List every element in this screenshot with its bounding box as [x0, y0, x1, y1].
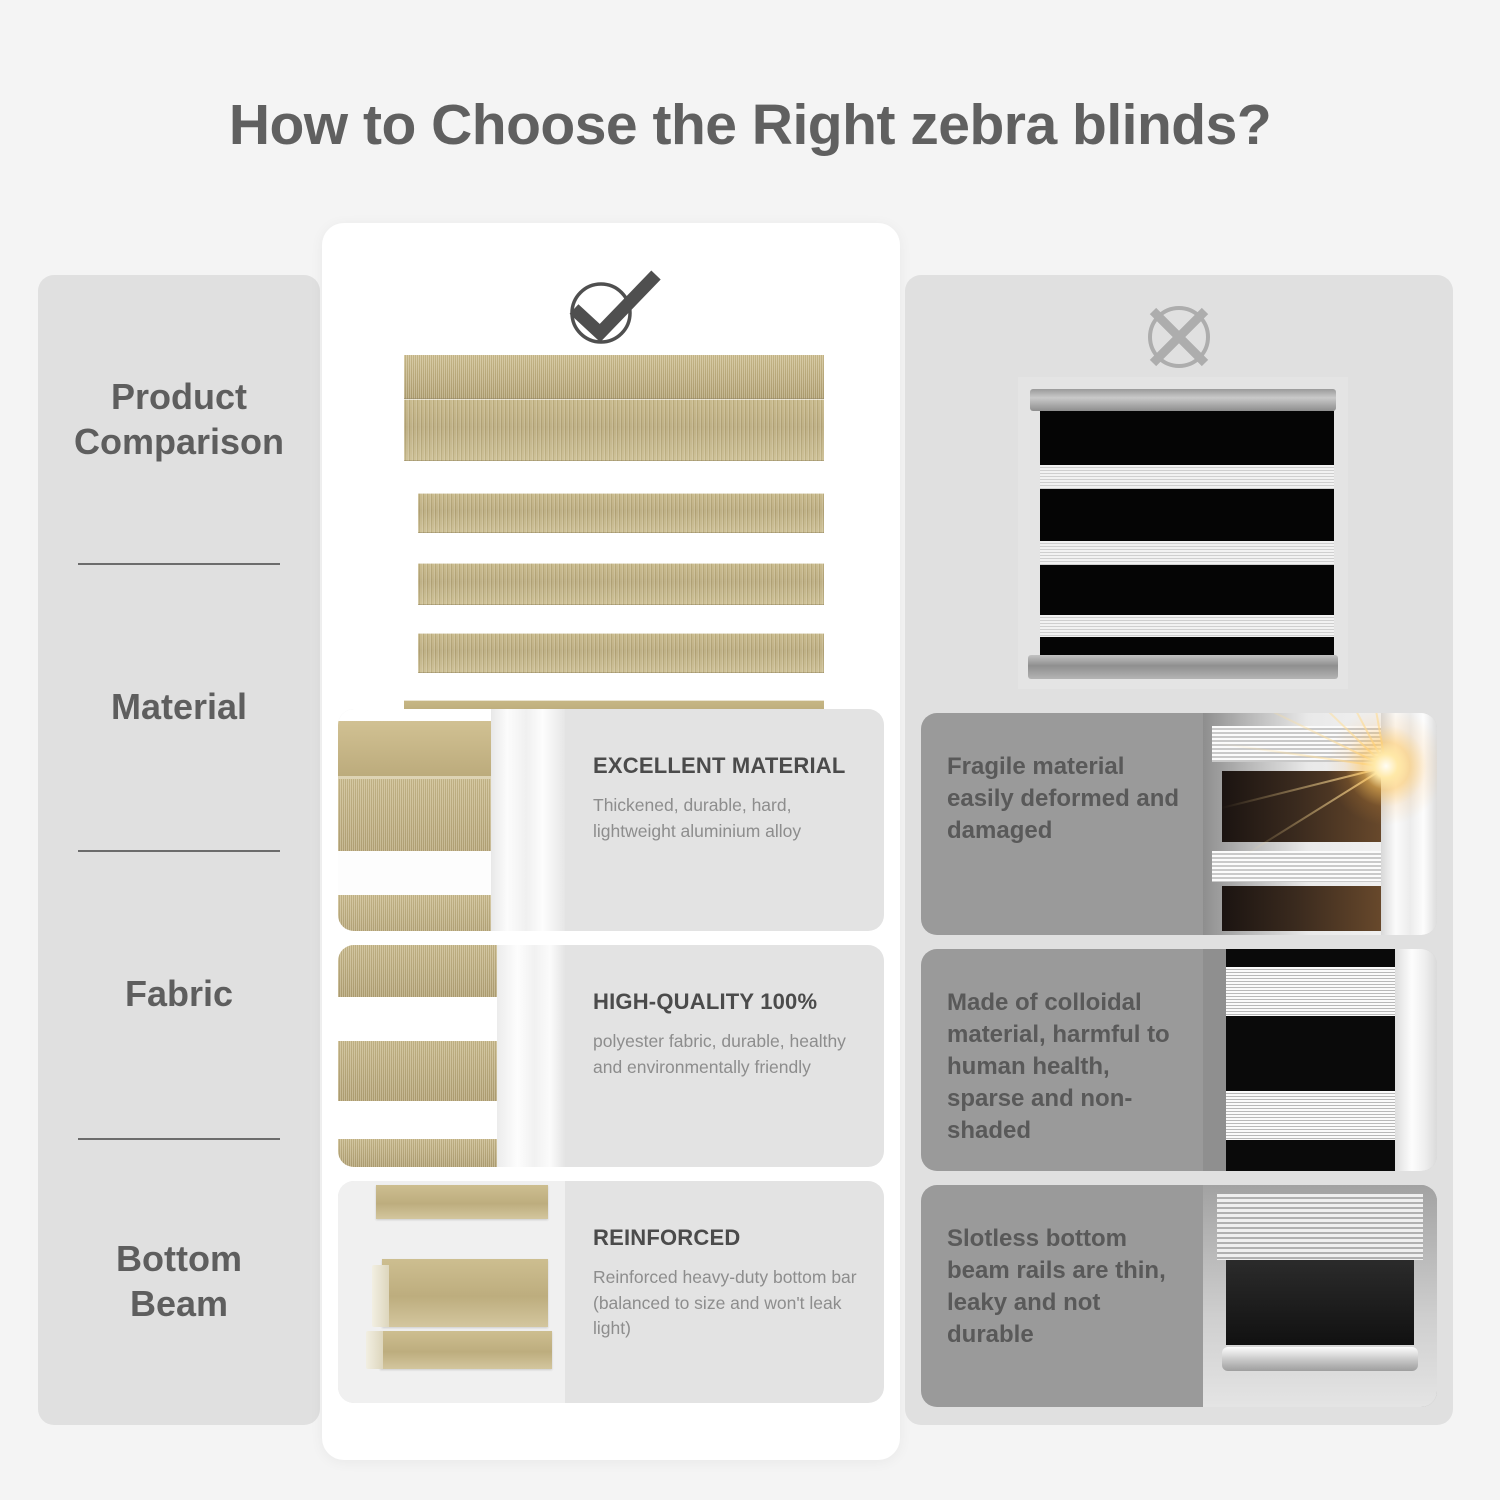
sidebar-label-material: Material: [111, 684, 247, 729]
feature-body: polyester fabric, durable, healthy and e…: [593, 1029, 862, 1080]
feature-heading: REINFORCED: [593, 1225, 862, 1251]
blind-band: [338, 895, 498, 931]
sidebar-row-material: Material: [38, 563, 320, 851]
bad-feature-text-material: Fragile material easily deformed and dam…: [921, 713, 1203, 935]
blind-head-rail: [338, 721, 506, 779]
blind-sheer-band: [1040, 541, 1334, 565]
sidebar-label-product-comparison: Product Comparison: [74, 374, 284, 464]
sun-flare: [1326, 713, 1437, 826]
blind-slat: [418, 633, 824, 673]
page-title: How to Choose the Right zebra blinds?: [0, 92, 1500, 158]
blind-sheer-band: [1226, 1091, 1395, 1140]
blind-dark-panel: [1226, 1260, 1413, 1344]
blind-black-band: [1226, 949, 1395, 967]
beam-slat: [382, 1259, 548, 1327]
fabric-band: [338, 1139, 503, 1167]
blind-black-band: [1040, 489, 1334, 541]
blind-slat: [404, 399, 824, 461]
good-status-row: [322, 269, 900, 347]
bad-product-column: Fragile material easily deformed and dam…: [905, 275, 1453, 1425]
fabric-band: [338, 1041, 503, 1101]
blind-dark-panel: [1222, 886, 1386, 930]
fabric-band: [338, 945, 503, 997]
blind-black-band: [1040, 565, 1334, 615]
sidebar-label-fabric: Fabric: [125, 971, 233, 1016]
good-feature-text-material: EXCELLENT MATERIAL Thickened, durable, h…: [565, 709, 884, 931]
blind-sheer-band: [1040, 465, 1334, 489]
blind-black-band: [1040, 411, 1334, 465]
bad-feature-text-fabric: Made of colloidal material, harmful to h…: [921, 949, 1203, 1171]
blind-bottom-rail: [1028, 655, 1338, 679]
bad-feature-card-bottom-beam: Slotless bottom beam rails are thin, lea…: [921, 1185, 1437, 1407]
blind-valance: [404, 355, 824, 399]
good-product-column: EXCELLENT MATERIAL Thickened, durable, h…: [322, 223, 900, 1460]
window-jamb: [1395, 949, 1437, 1171]
photo-beige-blind-window-frame: [338, 709, 565, 931]
feature-heading: Fragile material easily deformed and dam…: [947, 751, 1193, 847]
beam-bottom-bar: [380, 1331, 552, 1369]
comparison-category-sidebar: Product Comparison Material Fabric Botto…: [38, 275, 320, 1425]
sidebar-row-fabric: Fabric: [38, 850, 320, 1138]
blind-sheer-band: [1226, 967, 1395, 1016]
blind-top-rail: [1030, 389, 1336, 411]
feature-heading: EXCELLENT MATERIAL: [593, 753, 862, 779]
good-feature-card-material: EXCELLENT MATERIAL Thickened, durable, h…: [338, 709, 884, 931]
window-frame: [491, 709, 565, 931]
good-feature-card-bottom-beam: REINFORCED Reinforced heavy-duty bottom …: [338, 1181, 884, 1403]
photo-thin-bottom-rail: [1203, 1185, 1437, 1407]
bad-feature-card-material: Fragile material easily deformed and dam…: [921, 713, 1437, 935]
sidebar-row-product-comparison: Product Comparison: [38, 275, 320, 563]
bad-feature-text-bottom-beam: Slotless bottom beam rails are thin, lea…: [921, 1185, 1203, 1407]
thin-bottom-rail: [1222, 1347, 1419, 1371]
check-circle-icon: [556, 269, 666, 347]
feature-body: Reinforced heavy-duty bottom bar (balanc…: [593, 1265, 862, 1342]
feature-heading: Made of colloidal material, harmful to h…: [947, 987, 1193, 1147]
photo-sparse-fabric: [1203, 949, 1437, 1171]
blind-slat: [418, 493, 824, 533]
blind-gap: [338, 851, 498, 895]
blind-louvers: [1217, 1194, 1423, 1261]
good-feature-text-bottom-beam: REINFORCED Reinforced heavy-duty bottom …: [565, 1181, 884, 1403]
bad-status-row: [905, 299, 1453, 375]
photo-reinforced-bottom-beam: [338, 1181, 565, 1403]
photo-beige-fabric-closeup: [338, 945, 565, 1167]
sidebar-label-bottom-beam: Bottom Beam: [116, 1236, 242, 1326]
feature-heading: HIGH-QUALITY 100%: [593, 989, 862, 1015]
feature-heading: Slotless bottom beam rails are thin, lea…: [947, 1223, 1193, 1351]
blind-slits: [1212, 851, 1390, 882]
good-feature-text-fabric: HIGH-QUALITY 100% polyester fabric, dura…: [565, 945, 884, 1167]
good-feature-card-fabric: HIGH-QUALITY 100% polyester fabric, dura…: [338, 945, 884, 1167]
beam-slat: [376, 1185, 548, 1219]
good-hero-blind-image: [404, 355, 824, 700]
cross-circle-icon: [1141, 299, 1217, 375]
bad-hero-blind-image: [1018, 377, 1348, 689]
photo-light-leak-deformed-blind: [1203, 713, 1437, 935]
bad-feature-card-fabric: Made of colloidal material, harmful to h…: [921, 949, 1437, 1171]
feature-body: Thickened, durable, hard, lightweight al…: [593, 793, 862, 844]
blind-sheer-band: [1040, 615, 1334, 637]
blind-band: [338, 779, 498, 851]
beam-end-cap: [372, 1265, 389, 1327]
window-frame: [497, 945, 565, 1167]
sidebar-row-bottom-beam: Bottom Beam: [38, 1138, 320, 1426]
blind-slat: [418, 563, 824, 605]
blind-black-band: [1226, 1016, 1395, 1091]
blind-black-band: [1226, 1140, 1395, 1171]
beam-end-cap: [366, 1331, 383, 1369]
